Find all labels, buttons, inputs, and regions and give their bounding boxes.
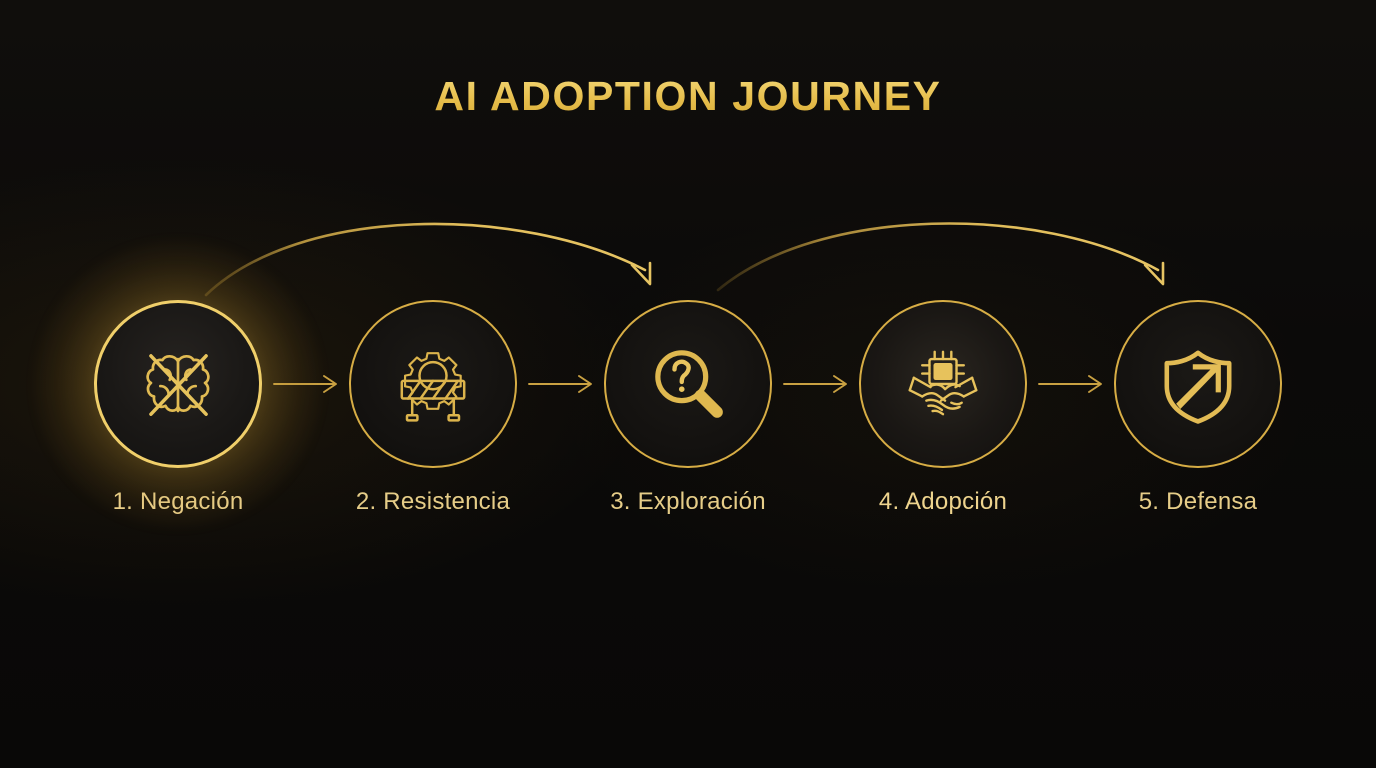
step-label: 2. Resistencia	[343, 488, 523, 516]
step-circle-wrap	[604, 300, 772, 468]
journey-step-adopcion[interactable]: 4. Adopción	[853, 300, 1033, 516]
step-label: 3. Exploración	[598, 488, 778, 516]
step-label: 5. Defensa	[1108, 488, 1288, 516]
step-circle	[859, 300, 1027, 468]
step-circle	[1114, 300, 1282, 468]
journey-step-exploracion[interactable]: 3. Exploración	[598, 300, 778, 516]
step-circle-wrap	[859, 300, 1027, 468]
page-title: AI ADOPTION JOURNEY	[0, 73, 1376, 120]
step-circle	[604, 300, 772, 468]
step-label: 4. Adopción	[853, 488, 1033, 516]
straight-arrow-4-to-5	[1039, 376, 1101, 392]
handshake-microchip-icon	[891, 332, 995, 436]
diagram-stage: AI ADOPTION JOURNEY	[0, 0, 1376, 768]
magnifier-question-mark-icon	[636, 332, 740, 436]
straight-arrow-2-to-3	[529, 376, 591, 392]
shield-arrow-up-icon	[1146, 332, 1250, 436]
step-circle-wrap	[1114, 300, 1282, 468]
step-circle	[349, 300, 517, 468]
step-circle-wrap	[349, 300, 517, 468]
arc-connector-3-to-5	[718, 223, 1163, 290]
journey-step-resistencia[interactable]: 2. Resistencia	[343, 300, 523, 516]
gear-behind-barricade-icon	[381, 332, 485, 436]
straight-arrow-3-to-4	[784, 376, 846, 392]
journey-step-negacion[interactable]: 1. Negación	[88, 300, 268, 516]
step-circle-wrap	[94, 300, 262, 468]
step-circle	[94, 300, 262, 468]
journey-step-defensa[interactable]: 5. Defensa	[1108, 300, 1288, 516]
brain-crossed-out-icon	[126, 332, 230, 436]
